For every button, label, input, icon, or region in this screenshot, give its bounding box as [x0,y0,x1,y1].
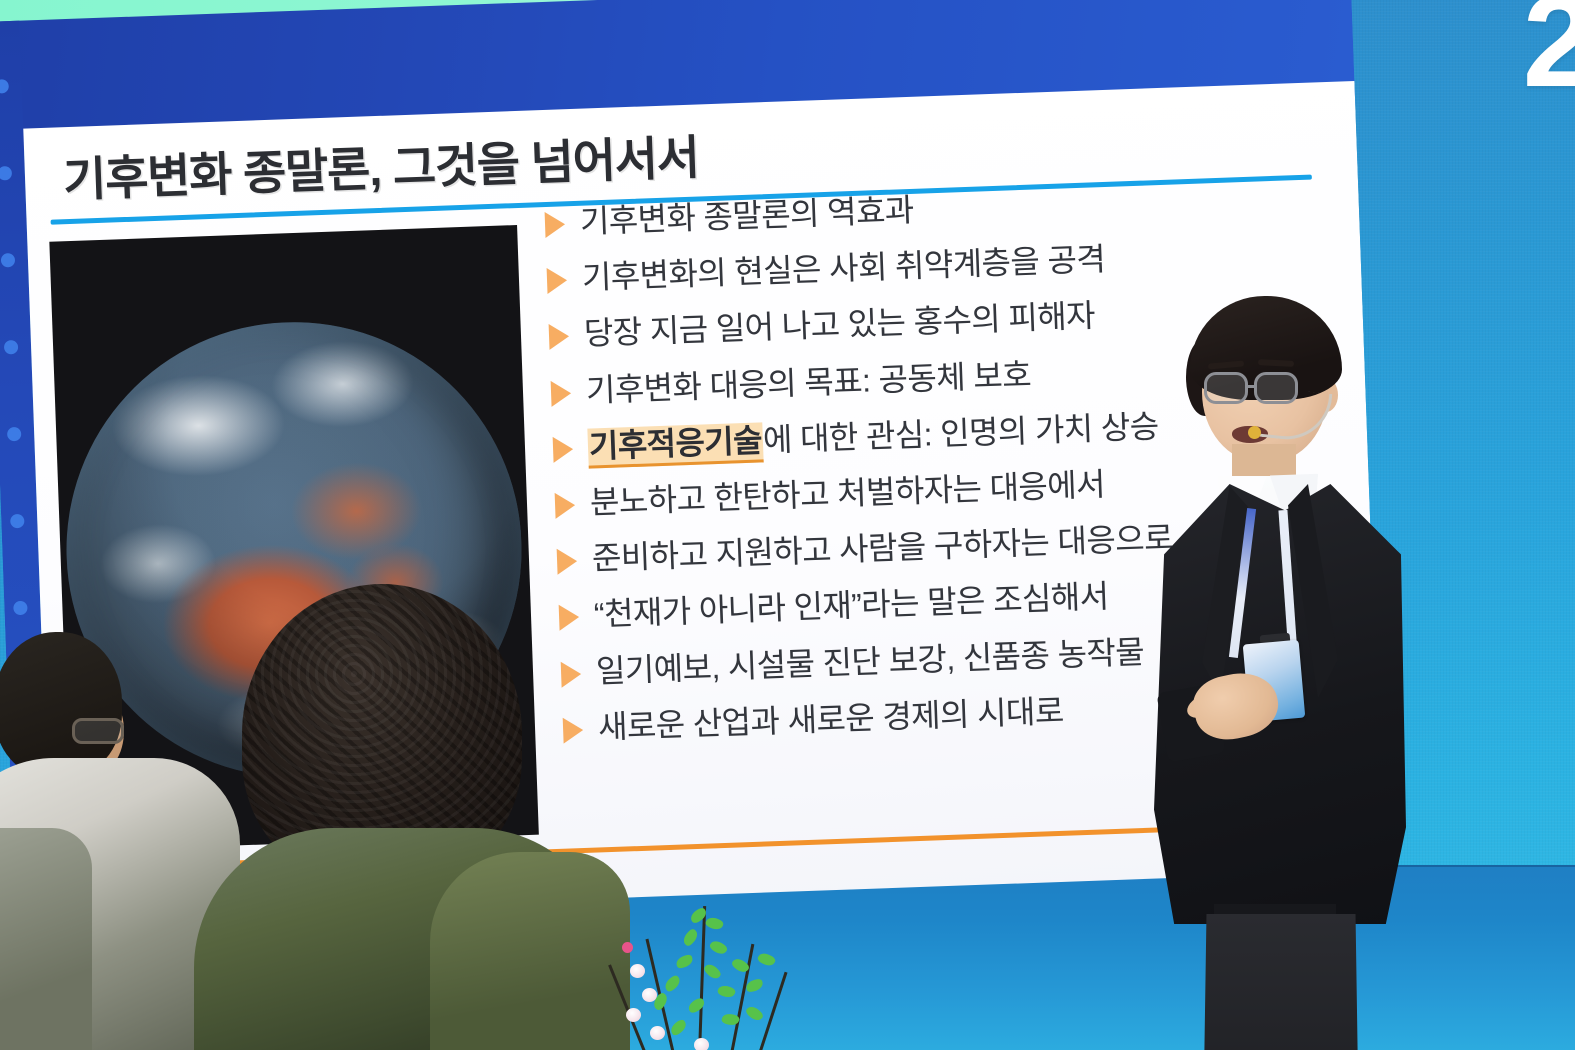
audience-left-shoulder [0,828,92,1050]
rail-dot [13,601,27,615]
highlighted-term: 기후적응기술 [587,422,763,468]
list-item-label: 일기예보, 시설물 진단 보강, 신품종 농작물 [595,634,1144,689]
triangle-bullet-icon [545,211,566,238]
plant-leaf [745,978,764,993]
triangle-bullet-icon [549,324,570,351]
plant-leaf [675,954,695,970]
headset-microphone-icon [1252,386,1333,444]
list-item-label: 분노하고 한탄하고 처벌하자는 대응에서 [589,467,1105,521]
plant-blossom [626,1008,641,1022]
rail-dot [4,340,18,354]
triangle-bullet-icon [555,492,576,519]
glasses-lens-left-icon [1204,372,1248,404]
plant-leaf [745,1004,765,1024]
list-item-label: 기후변화 대응의 목표: 공동체 보호 [585,357,1031,408]
plant-bud [622,942,633,953]
plant-blossom [650,1026,665,1040]
plant-stem [608,964,647,1050]
rail-dot [0,79,9,93]
audience-center-shoulder [430,852,630,1050]
audience-member-center [194,584,614,1050]
wall-numeral: 2 [1523,0,1575,106]
list-item-label: 기후변화의 현실은 사회 취약계층을 공격 [581,242,1105,296]
list-item-label: 새로운 산업과 새로운 경제의 시대로 [597,693,1064,745]
plant-blossom [642,988,657,1002]
plant-leaf [681,928,701,948]
plant-leaf [686,997,706,1014]
triangle-bullet-icon [551,380,572,407]
rail-dot [0,166,12,180]
plant-blossom [630,964,645,978]
plant-leaf [708,938,728,957]
slide-title: 기후변화 종말론, 그것을 넘어서서 [62,118,700,210]
rail-dot [10,514,24,528]
list-item-label: “천재가 아니라 인재”라는 말은 조심해서 [593,579,1109,633]
plant-leaf [717,983,737,1000]
plant-leaf [704,915,724,932]
triangle-bullet-icon [547,267,568,294]
list-item-label: 당장 지금 일어 나고 있는 홍수의 피해자 [583,299,1095,352]
plant-leaf [662,974,682,993]
plant-blossom [694,1038,709,1050]
list-item-label: 기후적응기술에 대한 관심: 인명의 가치 상승 [587,409,1159,465]
plant-leaf [756,950,776,968]
plant-leaf [668,1018,688,1037]
microphone-tip-icon [1248,426,1261,439]
presenter-trousers [1200,914,1362,1050]
plant-leaf [703,962,723,982]
list-item-label: 준비하고 지원하고 사람을 구하자는 대응으로 [591,521,1173,577]
foreground-plant [606,904,836,1050]
presenter [1128,286,1458,1050]
audience-left-head [0,632,122,778]
rail-dot [1,253,15,267]
list-item-label-rest: 에 대한 관심: 인명의 가치 상승 [762,408,1159,458]
audience-left-glasses-icon [72,718,124,744]
screenshot-stage: 2 기후변화 종말론, 그것을 넘어서서 [0,0,1575,1050]
plant-stem [698,906,706,1050]
triangle-bullet-icon [557,548,578,575]
triangle-bullet-icon [553,436,574,463]
glasses-bridge-icon [1247,385,1256,388]
rail-dot [7,427,21,441]
